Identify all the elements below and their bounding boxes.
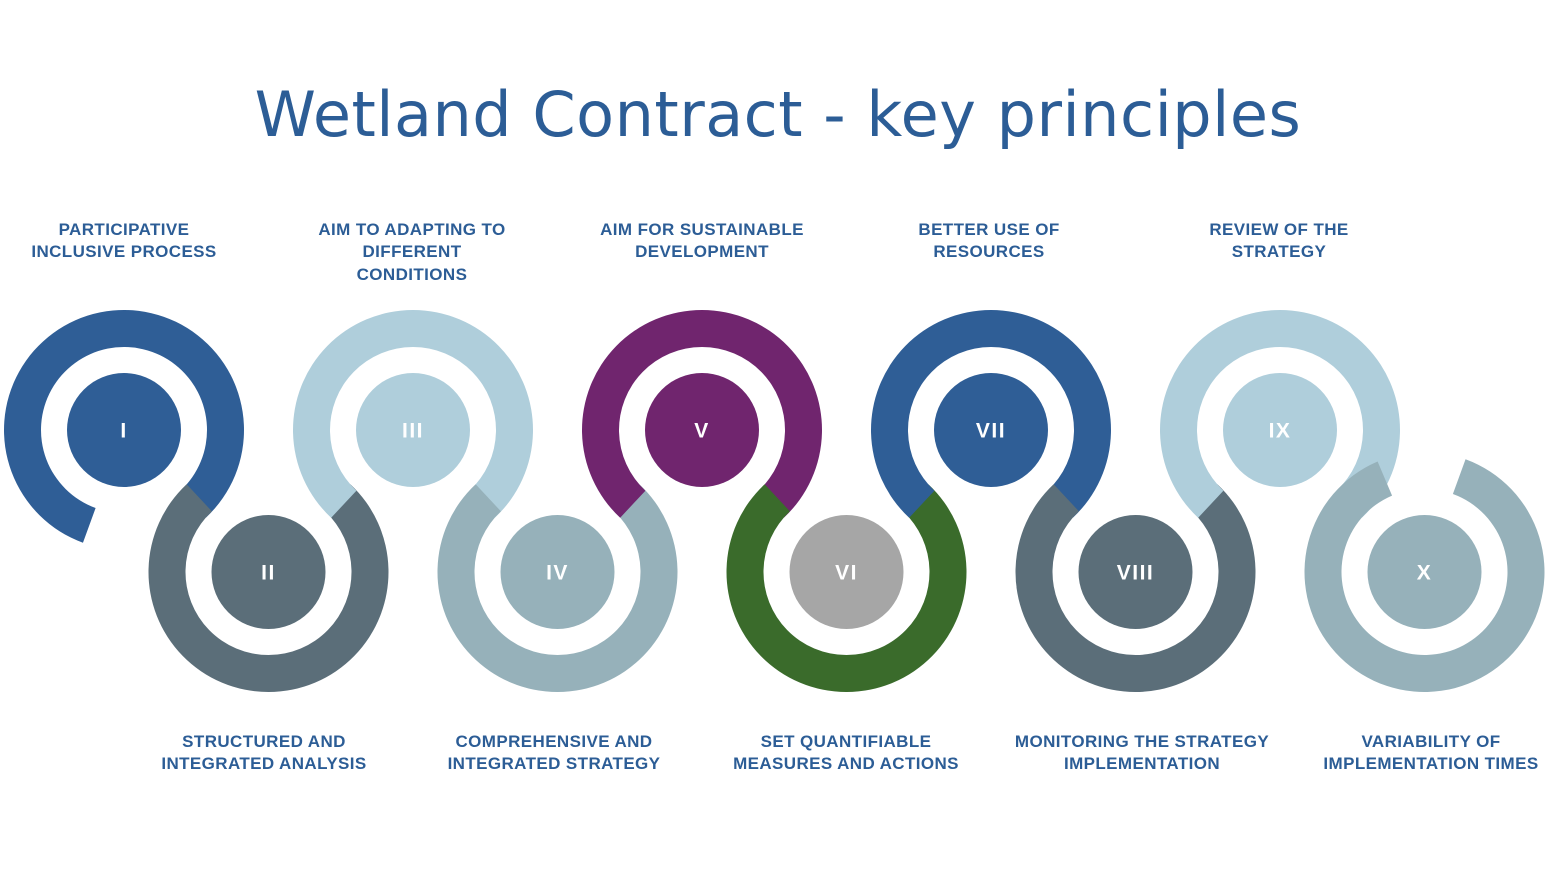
roman-numeral-I: I bbox=[120, 420, 127, 443]
caption-node-10: VARIABILITY OF IMPLEMENTATION TIMES bbox=[1308, 731, 1554, 776]
caption-line: BETTER USE OF bbox=[869, 219, 1109, 241]
caption-line: REVIEW OF THE bbox=[1159, 219, 1399, 241]
caption-node-8: MONITORING THE STRATEGY IMPLEMENTATION bbox=[1004, 731, 1280, 776]
caption-node-2: STRUCTURED AND INTEGRATED ANALYSIS bbox=[144, 731, 384, 776]
caption-node-9: REVIEW OF THE STRATEGY bbox=[1159, 219, 1399, 264]
caption-node-6: SET QUANTIFIABLE MEASURES AND ACTIONS bbox=[722, 731, 970, 776]
caption-line: SET QUANTIFIABLE bbox=[722, 731, 970, 753]
roman-numeral-II: II bbox=[261, 562, 276, 585]
caption-line: RESOURCES bbox=[869, 241, 1109, 263]
caption-line: COMPREHENSIVE AND bbox=[434, 731, 674, 753]
caption-line: VARIABILITY OF bbox=[1308, 731, 1554, 753]
caption-line: DIFFERENT bbox=[292, 241, 532, 263]
caption-line: PARTICIPATIVE bbox=[4, 219, 244, 241]
caption-line: IMPLEMENTATION TIMES bbox=[1308, 753, 1554, 775]
caption-node-5: AIM FOR SUSTAINABLE DEVELOPMENT bbox=[582, 219, 822, 264]
roman-numeral-VI: VI bbox=[835, 562, 858, 585]
roman-numeral-III: III bbox=[402, 420, 424, 443]
roman-numeral-X: X bbox=[1417, 562, 1433, 585]
roman-numeral-IX: IX bbox=[1269, 420, 1292, 443]
caption-line: MEASURES AND ACTIONS bbox=[722, 753, 970, 775]
caption-line: AIM FOR SUSTAINABLE bbox=[582, 219, 822, 241]
caption-line: STRUCTURED AND bbox=[144, 731, 384, 753]
roman-numeral-VIII: VIII bbox=[1117, 562, 1155, 585]
infographic-canvas: Wetland Contract - key principles IIIIII… bbox=[0, 0, 1556, 876]
caption-line: INCLUSIVE PROCESS bbox=[4, 241, 244, 263]
roman-numeral-IV: IV bbox=[546, 562, 569, 585]
roman-numeral-VII: VII bbox=[976, 420, 1006, 443]
caption-line: AIM TO ADAPTING TO bbox=[292, 219, 532, 241]
caption-line: MONITORING THE STRATEGY bbox=[1004, 731, 1280, 753]
caption-line: INTEGRATED STRATEGY bbox=[434, 753, 674, 775]
caption-line: INTEGRATED ANALYSIS bbox=[144, 753, 384, 775]
caption-node-7: BETTER USE OF RESOURCES bbox=[869, 219, 1109, 264]
roman-numeral-V: V bbox=[694, 420, 710, 443]
caption-line: IMPLEMENTATION bbox=[1004, 753, 1280, 775]
caption-line: DEVELOPMENT bbox=[582, 241, 822, 263]
caption-line: CONDITIONS bbox=[292, 264, 532, 286]
caption-line: STRATEGY bbox=[1159, 241, 1399, 263]
caption-node-1: PARTICIPATIVE INCLUSIVE PROCESS bbox=[4, 219, 244, 264]
caption-node-4: COMPREHENSIVE AND INTEGRATED STRATEGY bbox=[434, 731, 674, 776]
caption-node-3: AIM TO ADAPTING TO DIFFERENT CONDITIONS bbox=[292, 219, 532, 286]
